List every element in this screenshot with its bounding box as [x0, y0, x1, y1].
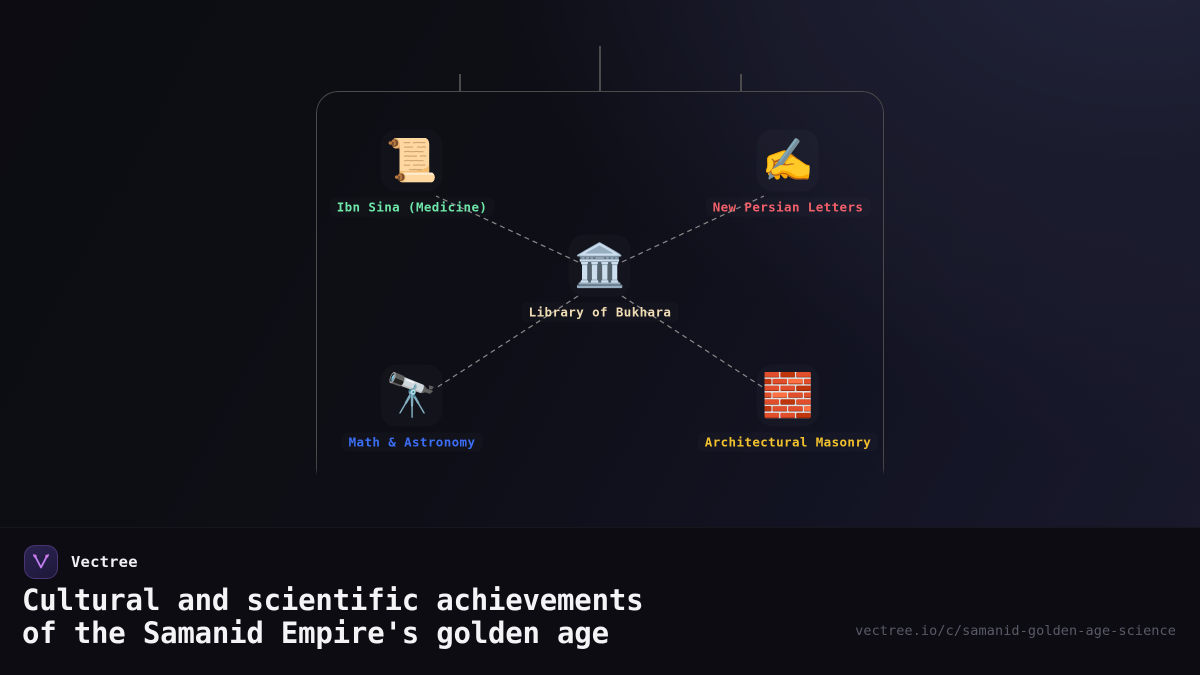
classical-building-icon: 🏛️ [569, 235, 631, 297]
graph-canvas: 🏛️ Library of Bukhara 📜 Ibn Sina (Medici… [0, 0, 1200, 527]
writing-hand-icon: ✍️ [757, 130, 819, 192]
page-title: Cultural and scientific achievements of … [22, 584, 643, 650]
brand: Vectree [24, 545, 138, 579]
graph-node-math-and-astronomy[interactable]: 🔭 Math & Astronomy [342, 365, 483, 452]
graph-node-new-persian-letters[interactable]: ✍️ New Persian Letters [706, 130, 871, 217]
graph-node-label: Library of Bukhara [522, 303, 679, 322]
vectree-logo-icon [24, 545, 58, 579]
graph-node-label: Math & Astronomy [342, 433, 483, 452]
graph-node-ibn-sina-medicine[interactable]: 📜 Ibn Sina (Medicine) [330, 130, 495, 217]
graph-node-label: Architectural Masonry [698, 433, 878, 452]
scroll-icon: 📜 [381, 130, 443, 192]
page-title-line-2: of the Samanid Empire's golden age [22, 617, 643, 650]
page-title-line-1: Cultural and scientific achievements [22, 584, 643, 617]
brick-icon: 🧱 [757, 365, 819, 427]
vectree-logo-glyph [30, 551, 52, 573]
graph-node-architectural-masonry[interactable]: 🧱 Architectural Masonry [698, 365, 878, 452]
source-url: vectree.io/c/samanid-golden-age-science [855, 623, 1176, 639]
telescope-icon: 🔭 [381, 365, 443, 427]
graph-node-library-of-bukhara[interactable]: 🏛️ Library of Bukhara [522, 235, 679, 322]
footer-bar: Vectree Cultural and scientific achievem… [0, 527, 1200, 675]
graph-node-label: New Persian Letters [706, 198, 871, 217]
page-root: 🏛️ Library of Bukhara 📜 Ibn Sina (Medici… [0, 0, 1200, 675]
graph-node-label: Ibn Sina (Medicine) [330, 198, 495, 217]
brand-name: Vectree [71, 553, 138, 571]
